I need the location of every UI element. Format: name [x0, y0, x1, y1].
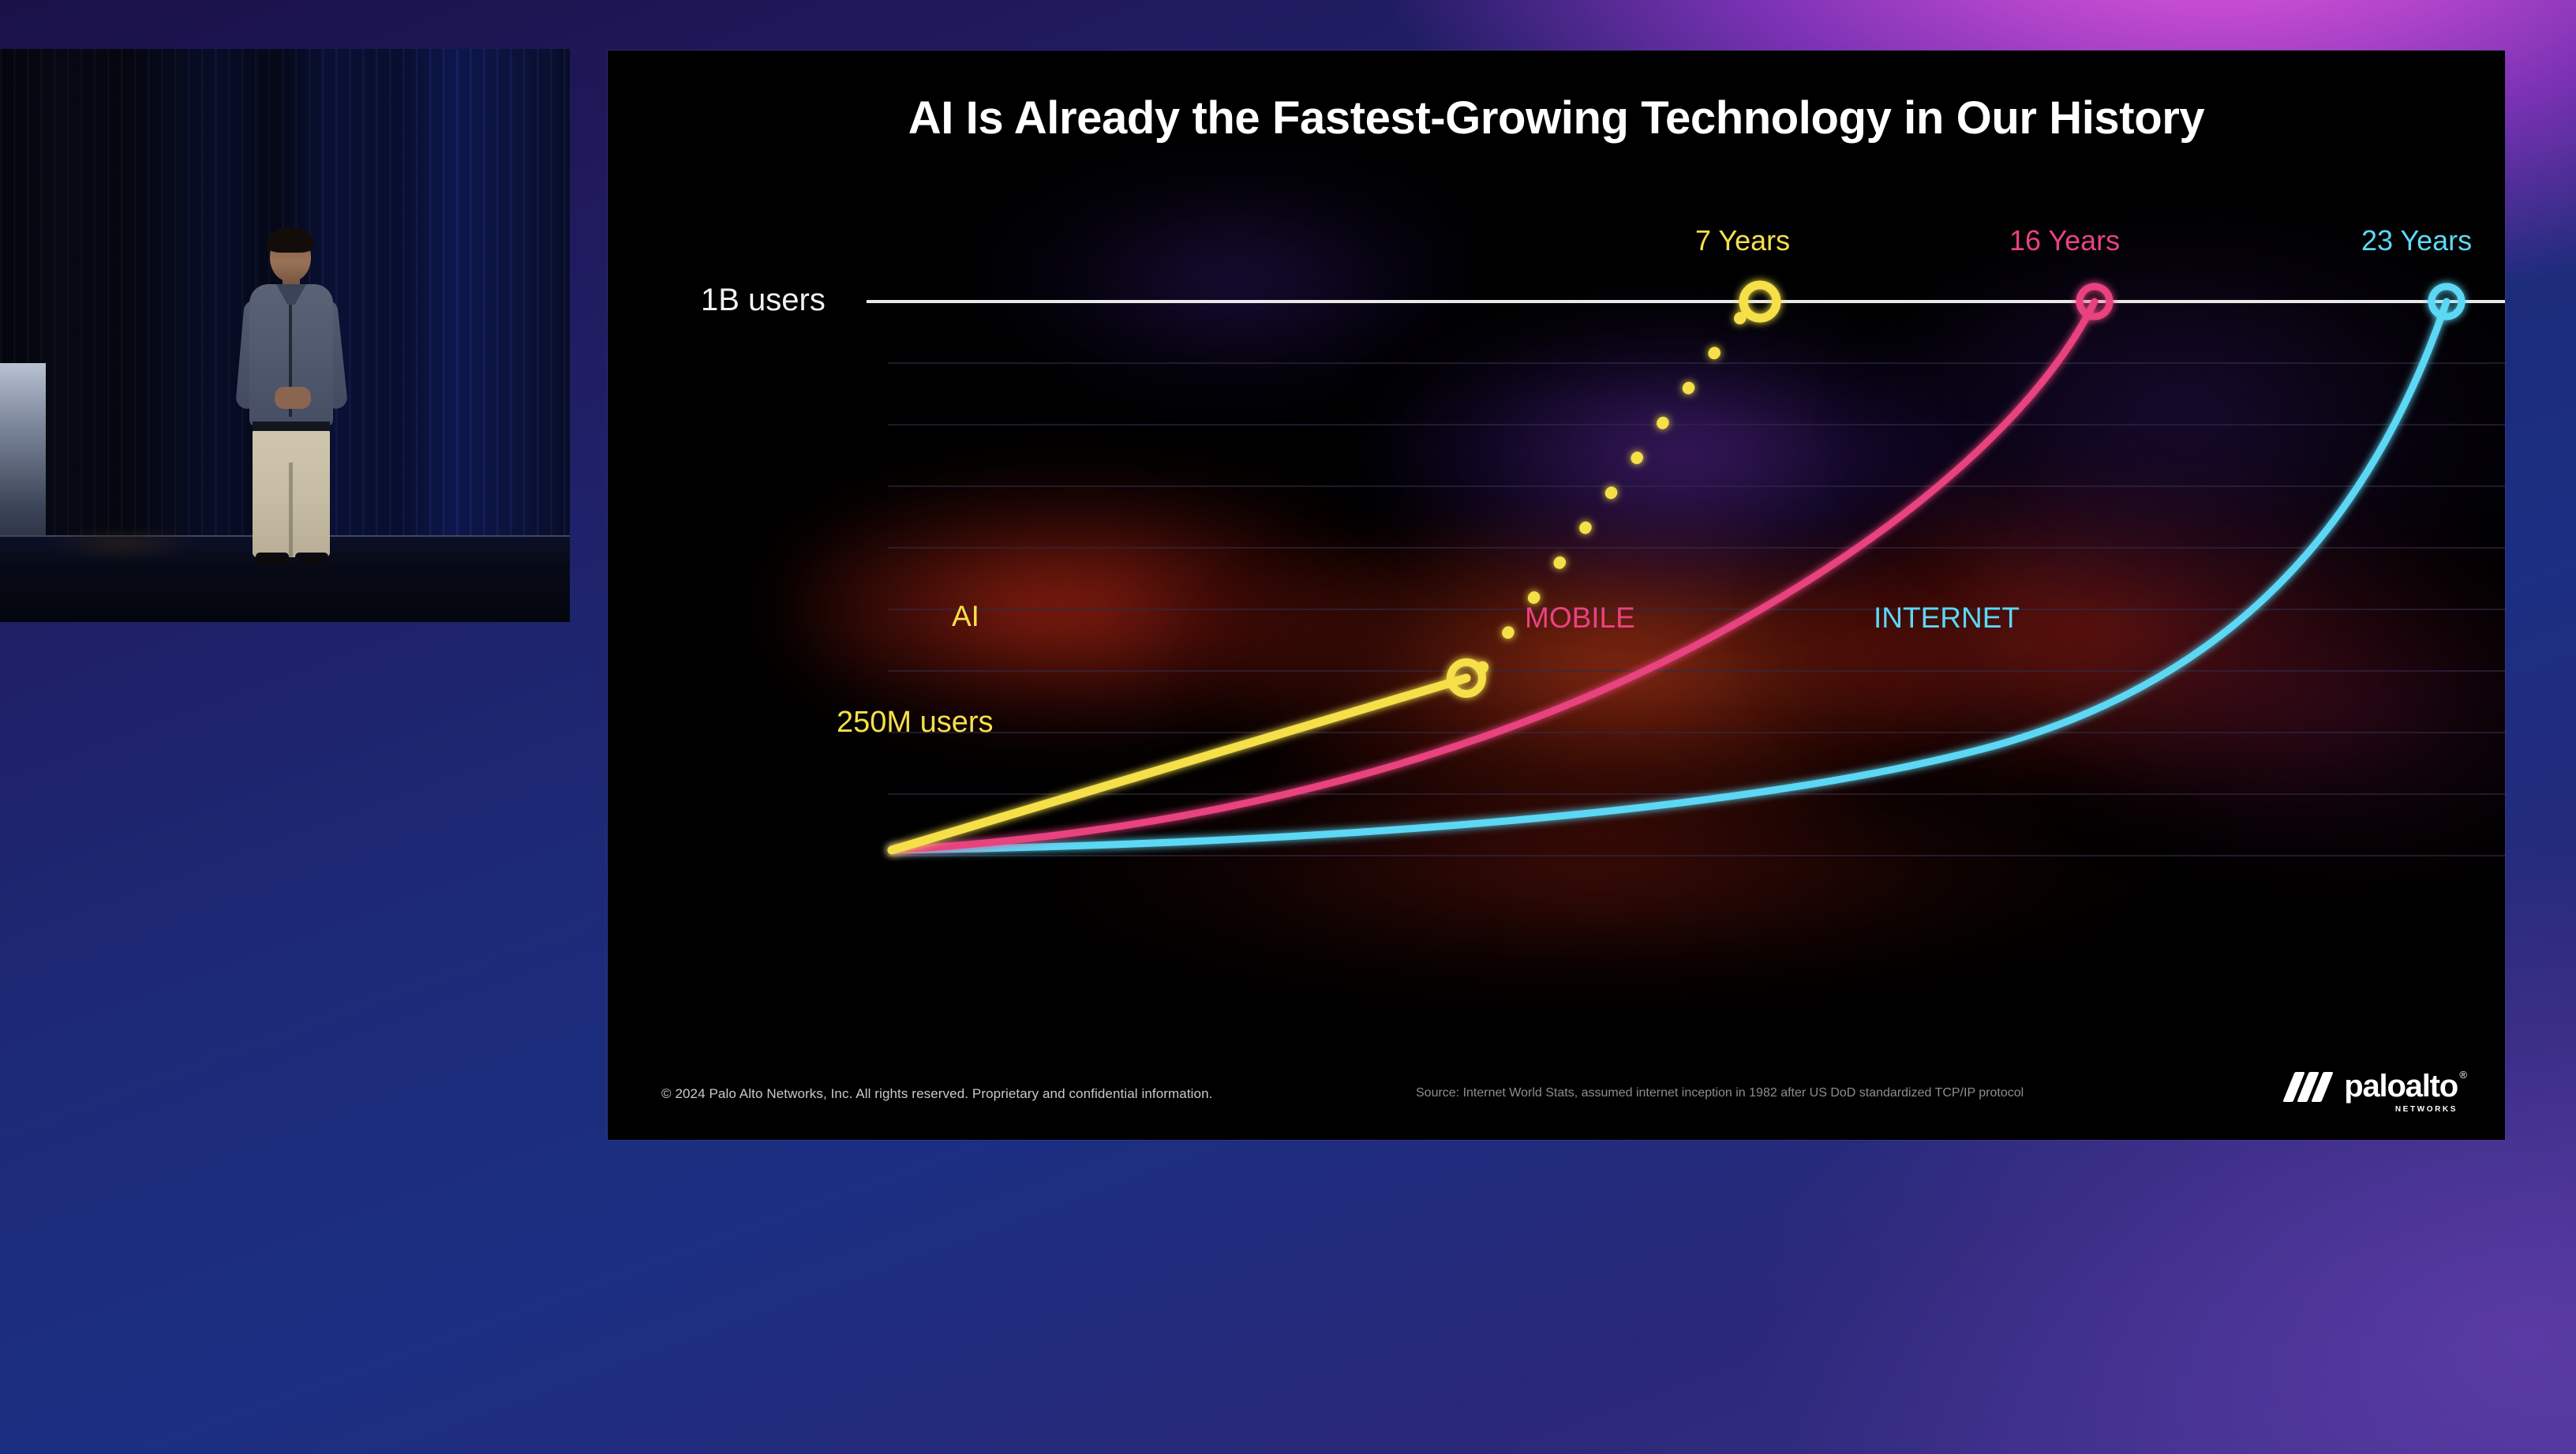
- mobile-series-label: MOBILE: [1525, 601, 1635, 635]
- paloalto-networks-logo: paloalto ® NETWORKS: [2287, 1070, 2458, 1102]
- growth-line-chart: 1B users 7 Years 16 Years 23 Years AI MO…: [608, 51, 2505, 1140]
- ai-250m-annotation: 250M users: [837, 706, 994, 740]
- paloalto-bars-icon: [2287, 1070, 2333, 1102]
- slide-footer: © 2024 Palo Alto Networks, Inc. All righ…: [608, 1064, 2505, 1140]
- presenter-belt: [253, 422, 330, 431]
- stage-capture-page: AI Is Already the Fastest-Growing Techno…: [0, 0, 2576, 1454]
- mobile-years-label: 16 Years: [2009, 224, 2120, 257]
- presenter-figure: [229, 232, 355, 564]
- slide-title: AI Is Already the Fastest-Growing Techno…: [608, 92, 2505, 144]
- floor-shadow: [47, 526, 197, 562]
- internet-series-label: INTERNET: [1874, 601, 2020, 635]
- chart-svg: [608, 51, 2505, 1140]
- presenter-video-inset: [0, 49, 570, 622]
- presenter-hands: [275, 387, 311, 409]
- logo-wordmark: paloalto: [2344, 1069, 2458, 1104]
- presentation-slide: AI Is Already the Fastest-Growing Techno…: [608, 51, 2505, 1140]
- presenter-leg-split: [289, 463, 293, 557]
- ai-solid-segment: [892, 678, 1466, 850]
- presenter-left-shoe: [256, 553, 289, 565]
- internet-curve: [892, 302, 2447, 850]
- internet-years-label: 23 Years: [2361, 224, 2472, 257]
- y-axis-threshold-label: 1B users: [701, 283, 826, 318]
- footer-copyright: © 2024 Palo Alto Networks, Inc. All righ…: [661, 1086, 1213, 1102]
- logo-registered-mark: ®: [2459, 1069, 2467, 1081]
- logo-subtitle: NETWORKS: [2395, 1105, 2458, 1114]
- ai-years-label: 7 Years: [1695, 224, 1790, 257]
- logo-text-wrap: paloalto ® NETWORKS: [2344, 1070, 2458, 1102]
- ai-series-label: AI: [952, 600, 979, 633]
- footer-source-note: Source: Internet World Stats, assumed in…: [1416, 1086, 2024, 1100]
- presenter-right-shoe: [295, 553, 328, 565]
